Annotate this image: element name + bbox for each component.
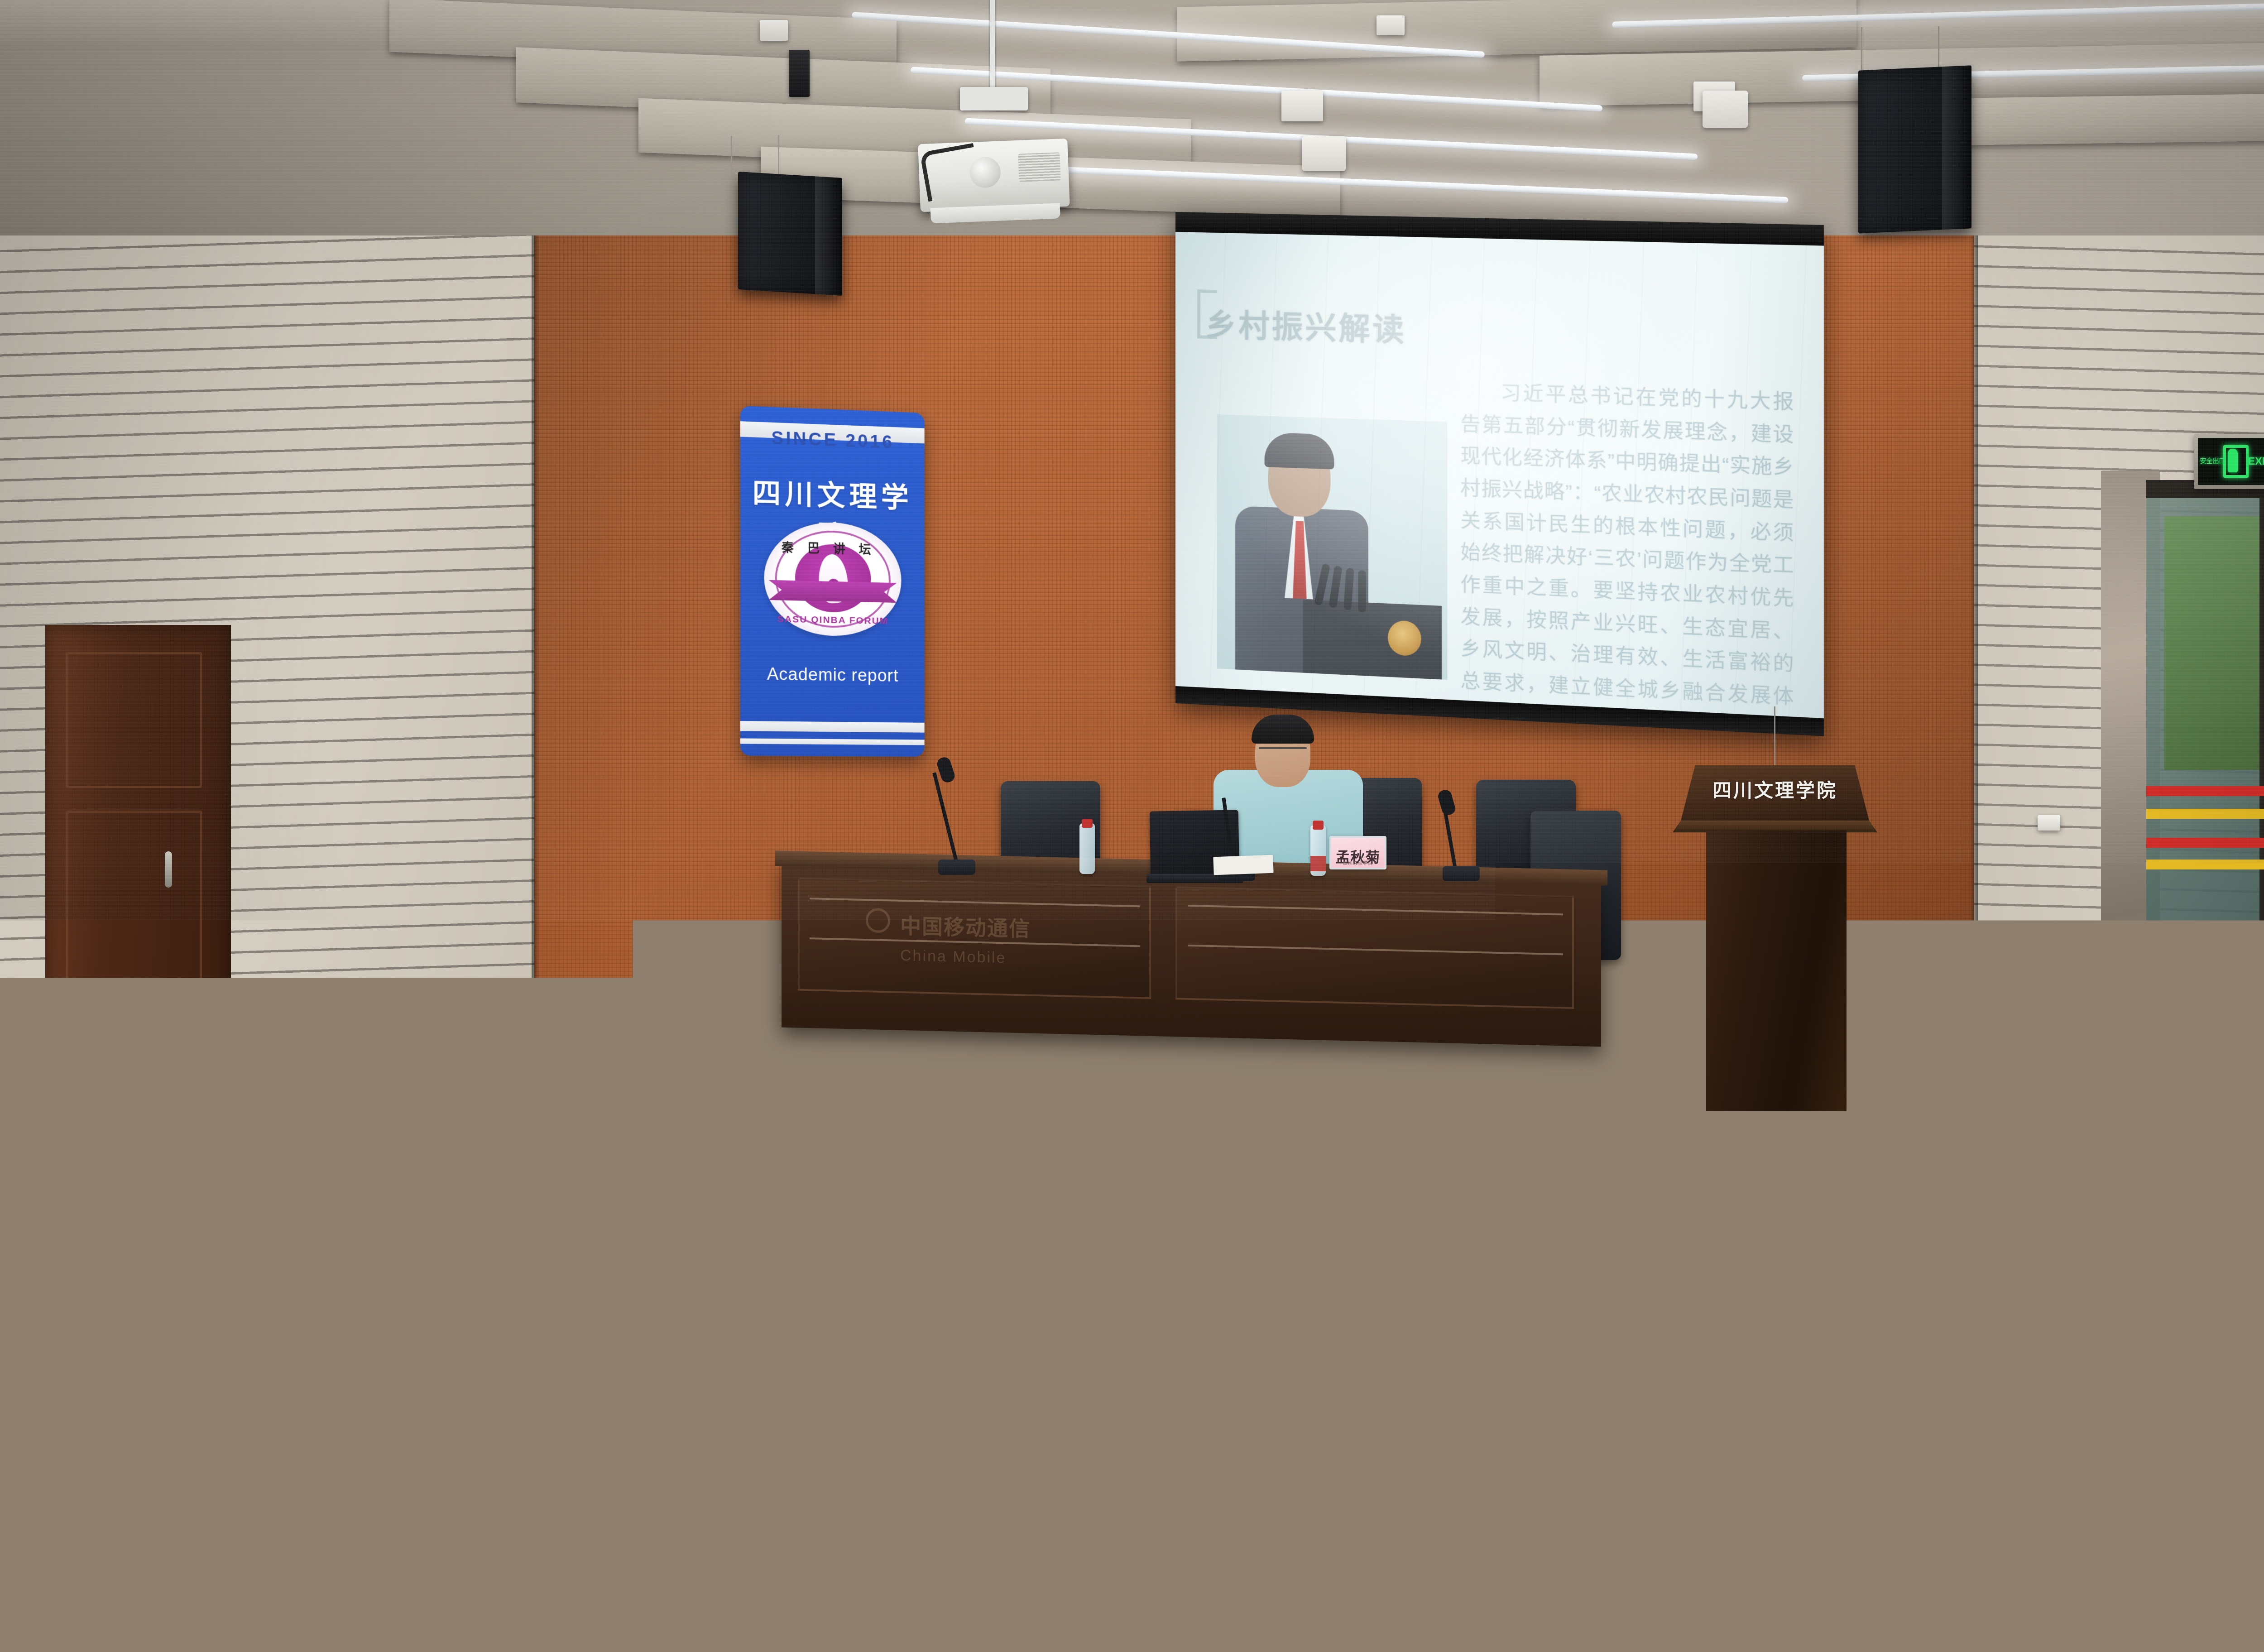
banner-subtitle-en: Academic report xyxy=(740,664,925,687)
speaker-wire-left-b xyxy=(778,135,779,178)
logo-forum-name-cn: 秦巴讲坛 xyxy=(764,537,901,558)
audience-hair-c5 xyxy=(658,1249,763,1403)
audience-seating-area: 13 15 15 xyxy=(0,924,2264,1652)
audience-hair-c9 xyxy=(1270,1244,1377,1388)
audience-head-a17 xyxy=(1847,1017,1918,1102)
audience-hair-c11 xyxy=(1568,1251,1674,1423)
hanging-speaker-left xyxy=(738,172,842,296)
table-papers xyxy=(1213,855,1273,875)
seat-row-e-right-1[interactable] xyxy=(2146,1467,2264,1612)
presentation-slide: 乡村振兴解读 习近平总书记在党的十九大报告第五部分“贯彻新发展理念，建设现代化经 xyxy=(1175,232,1824,718)
presenter-nameplate: 孟秋菊 四川文理学院 xyxy=(1329,836,1386,869)
running-person-icon xyxy=(2228,449,2238,472)
ceiling-sensor-box-3 xyxy=(1377,15,1405,35)
seat-crest xyxy=(1666,1239,1775,1261)
handout-center-13[interactable] xyxy=(519,1551,658,1617)
audience-head-a18 xyxy=(1947,1023,2016,1106)
wall-outlet[interactable] xyxy=(2038,815,2060,831)
audience-head-a20 xyxy=(2155,1035,2224,1119)
audience-head-a11 xyxy=(1014,1006,1088,1094)
seat-number-15-right: 15 xyxy=(1936,1252,1986,1301)
audience-desk-right-4 xyxy=(2006,1492,2264,1529)
audience-head-a16 xyxy=(1748,1023,1816,1104)
speaker-wire-right-a xyxy=(1861,27,1862,72)
safety-stripe-yellow-1 xyxy=(2146,809,2264,819)
emergency-exit-sign: 安全出口 EXIT xyxy=(2194,434,2264,489)
safety-stripe-yellow-2 xyxy=(2146,860,2264,869)
exit-sign-face: 安全出口 EXIT xyxy=(2198,438,2264,485)
speaker-wire-left-a xyxy=(731,136,732,179)
projector-vent xyxy=(1018,152,1060,182)
water-bottle-label-center xyxy=(1310,856,1326,871)
pen-center[interactable] xyxy=(682,1599,726,1630)
audience-head-a19 xyxy=(2047,1028,2118,1113)
lecture-hall-photo: 乡村振兴解读 习近平总书记在党的十九大报告第五部分“贯彻新发展理念，建设现代化经 xyxy=(0,0,2264,1652)
audience-head-a3 xyxy=(217,1010,289,1096)
seat-row-c-4[interactable] xyxy=(1666,1239,1775,1325)
logo-forum-name-en: SASU QINBA FORUM xyxy=(764,614,901,627)
banner-stripe-bottom-2 xyxy=(740,738,925,745)
ceiling-slab-a xyxy=(0,0,444,50)
hanging-speaker-right xyxy=(1858,65,1971,233)
water-bottle-cap-center xyxy=(1313,821,1324,830)
slide-photo-mic-4 xyxy=(1358,570,1366,613)
seat-crest xyxy=(1630,1039,1707,1054)
seat-row-d-15b[interactable]: 15 xyxy=(1906,1232,2042,1368)
presenter-glasses xyxy=(1259,747,1307,749)
banner-stripe-bottom-1 xyxy=(740,721,925,733)
ceiling-projector xyxy=(918,139,1070,212)
audience-hair-c4 xyxy=(500,1248,607,1402)
seat-crest xyxy=(1549,1123,1639,1142)
ceiling-camera-housing xyxy=(789,50,810,97)
seat-crest xyxy=(1766,1125,1856,1144)
seat-crest xyxy=(584,1458,734,1494)
speaker-wire-right-b xyxy=(1938,26,1939,72)
safety-stripe-red-2 xyxy=(2146,838,2264,848)
audience-head-a12 xyxy=(1123,1014,1191,1097)
ceiling-spotlight-left xyxy=(1302,136,1346,171)
audience-hair-b16 xyxy=(2090,1140,2182,1267)
ceiling-spotlight-right xyxy=(1703,91,1748,128)
seat-number-13: 13 xyxy=(652,1494,709,1552)
projector-cables xyxy=(920,143,982,202)
exit-label-en: EXIT xyxy=(2248,455,2264,467)
left-door-handle[interactable] xyxy=(165,851,172,888)
seat-row-a-4[interactable] xyxy=(1630,1039,1707,1098)
glass-view-foliage-1 xyxy=(2164,516,2264,770)
seat-crest xyxy=(1983,1132,2074,1151)
audience-white-cap xyxy=(480,989,557,1043)
projector-mount-bracket xyxy=(960,87,1028,110)
ceiling-sensor-box-2 xyxy=(1281,91,1323,121)
audience-hair-b6 xyxy=(582,1123,673,1245)
seat-number-15: 15 xyxy=(1292,1547,1356,1610)
left-door-panel-upper xyxy=(66,652,202,788)
audience-hair-c8 xyxy=(1115,1244,1224,1439)
logo-ribbon xyxy=(769,580,897,603)
exit-label-cn: 安全出口 xyxy=(2200,456,2225,466)
audience-hair-d7 xyxy=(1689,1397,1842,1652)
academic-report-banner: SINCE 2016 四川文理学院 秦巴讲坛 SASU QINBA FORUM … xyxy=(740,406,925,757)
water-bottle-cap-left xyxy=(1082,819,1093,828)
handout-line-2 xyxy=(539,1580,625,1585)
screen-surface: 乡村振兴解读 习近平总书记在党的十九大报告第五部分“贯彻新发展理念，建设现代化经 xyxy=(1175,232,1824,718)
projector-drop-pole xyxy=(990,0,995,91)
table-mic-base-right xyxy=(1443,866,1480,881)
nameplate-institution: 四川文理学院 xyxy=(1331,859,1385,866)
safety-stripe-red-1 xyxy=(2146,786,2264,796)
ceiling-sensor-box-1 xyxy=(760,20,788,41)
podium-institution-text: 四川文理学院 xyxy=(1689,775,1861,803)
handout-line-3 xyxy=(539,1588,612,1593)
audience-head-a13 xyxy=(1223,1007,1294,1093)
audience-hair-d2 xyxy=(136,1372,293,1652)
seat-row-b-3[interactable] xyxy=(1549,1123,1639,1196)
handout-right-3[interactable] xyxy=(1983,1381,2092,1424)
podium-mic-stem xyxy=(1774,706,1775,766)
table-mic-base-left xyxy=(938,860,975,875)
seat-row-a-3[interactable] xyxy=(1530,1037,1607,1096)
seat-crest xyxy=(1530,1037,1607,1052)
water-bottle-left xyxy=(1079,823,1095,874)
slide-photo-xi-at-podium xyxy=(1217,414,1447,680)
projection-screen: 乡村振兴解读 习近平总书记在党的十九大报告第五部分“贯彻新发展理念，建设现代化经 xyxy=(1175,212,1824,736)
seat-row-b-4[interactable] xyxy=(1766,1125,1856,1197)
seat-row-b-5[interactable] xyxy=(1983,1132,2074,1205)
slide-title: 乡村振兴解读 xyxy=(1205,300,1406,351)
slide-body-text: 习近平总书记在党的十九大报告第五部分“贯彻新发展理念，建设现代化经济体系”中明确… xyxy=(1460,376,1794,718)
handout-line-1 xyxy=(547,1572,615,1577)
audience-head-a4 xyxy=(317,1004,390,1093)
